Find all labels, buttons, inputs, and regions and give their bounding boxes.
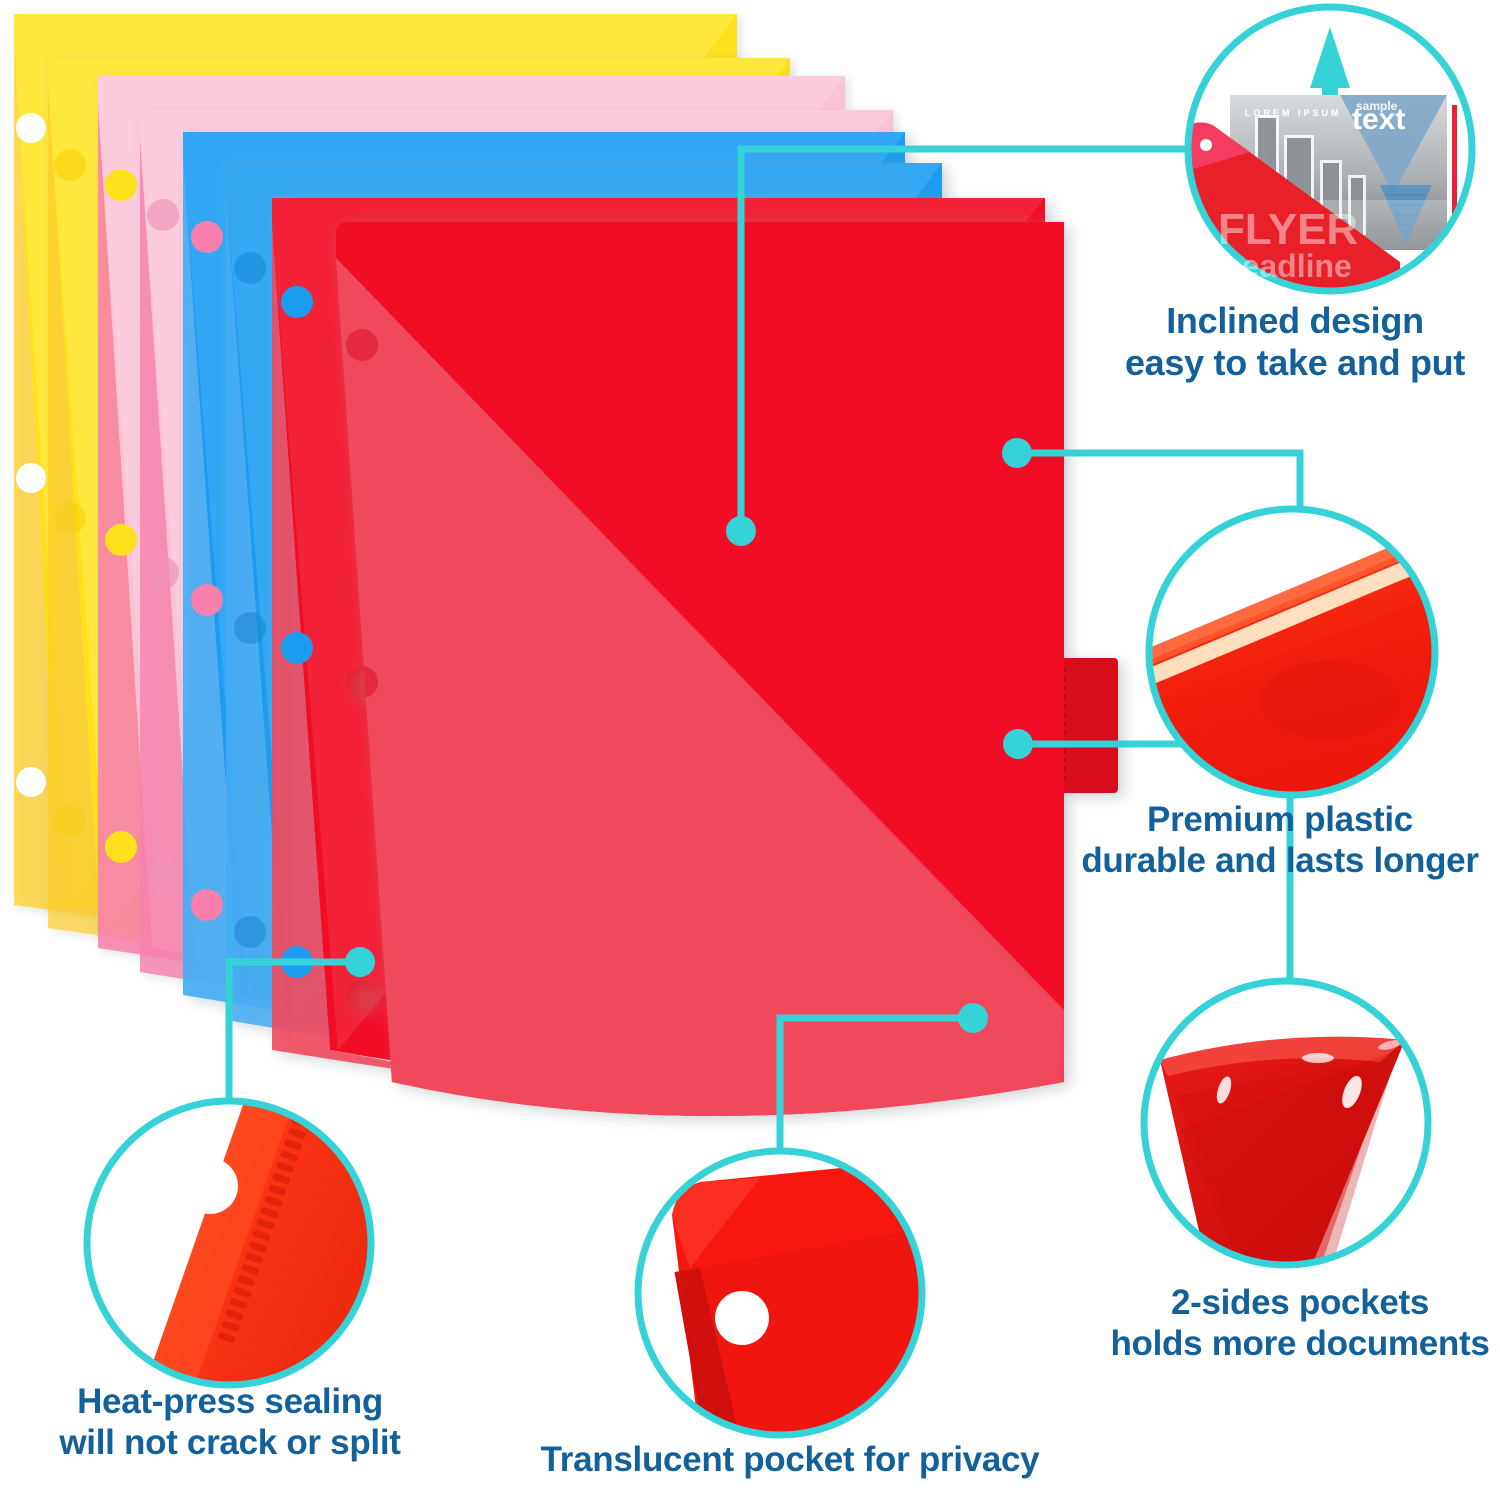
bubble-heat-press: [87, 1085, 371, 1385]
product-infographic: LOREM IPSUM sample text FLYER headline I…: [0, 0, 1500, 1493]
caption-two-sides-pockets: 2-sides pockets holds more documents: [1100, 1283, 1500, 1364]
bubble-premium-plastic: [1149, 509, 1435, 795]
bubble-translucent-pocket: [638, 1151, 922, 1440]
bubble-two-sides-pockets: [1144, 981, 1428, 1272]
dot-inclined-design: [726, 516, 756, 546]
caption-inclined-design: Inclined design easy to take and put: [1090, 300, 1500, 384]
dot-heat-press: [345, 947, 375, 977]
caption-premium-plastic: Premium plastic durable and lasts longer: [1060, 800, 1500, 881]
caption-translucent-pocket: Translucent pocket for privacy: [480, 1440, 1100, 1481]
infographic-artwork: [0, 0, 1500, 1493]
bubble-inclined-design: [1182, 7, 1472, 292]
dot-two-sides-pockets: [1003, 729, 1033, 759]
red-folder-side-tab: [1056, 658, 1118, 793]
folder-sheet-red-front: [336, 222, 1118, 1116]
dot-translucent: [958, 1003, 988, 1033]
dot-premium-plastic: [1002, 438, 1032, 468]
caption-heat-press-sealing: Heat-press sealing will not crack or spl…: [10, 1382, 450, 1463]
